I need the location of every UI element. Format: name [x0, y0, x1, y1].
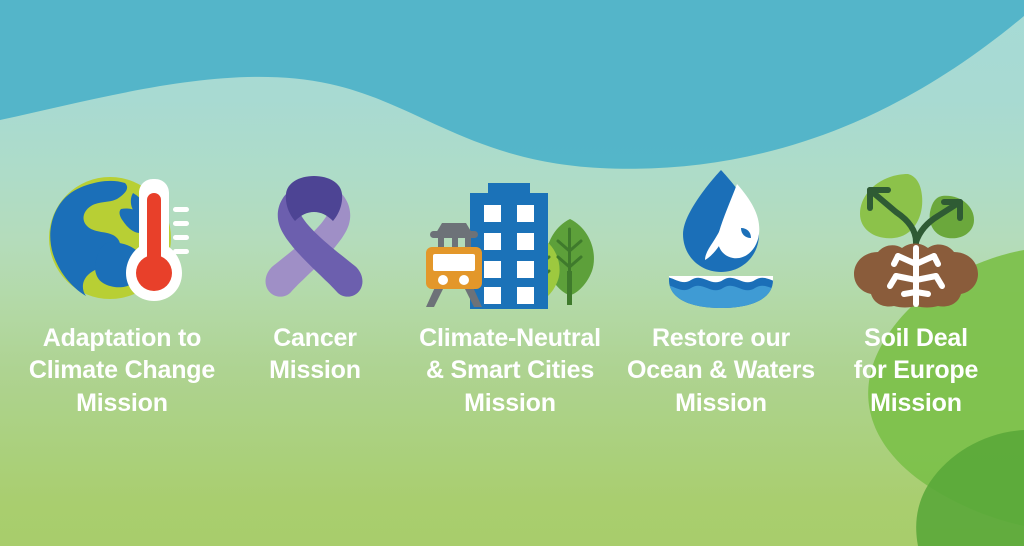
sprout-soil-roots-icon: [848, 168, 984, 308]
globe-thermometer-icon: [47, 168, 197, 308]
mission-banner: Adaptation to Climate Change Mission Can…: [0, 0, 1024, 546]
mission-label: Soil Deal for Europe Mission: [854, 322, 978, 419]
tram-shape: [426, 223, 482, 307]
wave-bowl-shape: [661, 266, 781, 308]
mission-label: Adaptation to Climate Change Mission: [29, 322, 215, 419]
water-droplet-waves-icon: [661, 168, 781, 308]
city-tram-trees-icon: [422, 168, 598, 308]
mission-item-adaptation-to-climate-change[interactable]: Adaptation to Climate Change Mission: [13, 168, 231, 419]
mission-list: Adaptation to Climate Change Mission Can…: [0, 0, 1024, 546]
mission-item-restore-our-ocean-and-waters[interactable]: Restore our Ocean & Waters Mission: [621, 168, 821, 419]
mission-label: Climate-Neutral & Smart Cities Mission: [419, 322, 601, 419]
mission-label: Cancer Mission: [269, 322, 361, 387]
mission-item-soil-deal-for-europe[interactable]: Soil Deal for Europe Mission: [821, 168, 1011, 419]
mission-label: Restore our Ocean & Waters Mission: [627, 322, 815, 419]
awareness-ribbon-icon: [263, 168, 367, 308]
building-shape: [470, 183, 548, 309]
mission-item-cancer[interactable]: Cancer Mission: [231, 168, 399, 387]
mission-item-climate-neutral-and-smart-cities[interactable]: Climate-Neutral & Smart Cities Mission: [399, 168, 621, 419]
